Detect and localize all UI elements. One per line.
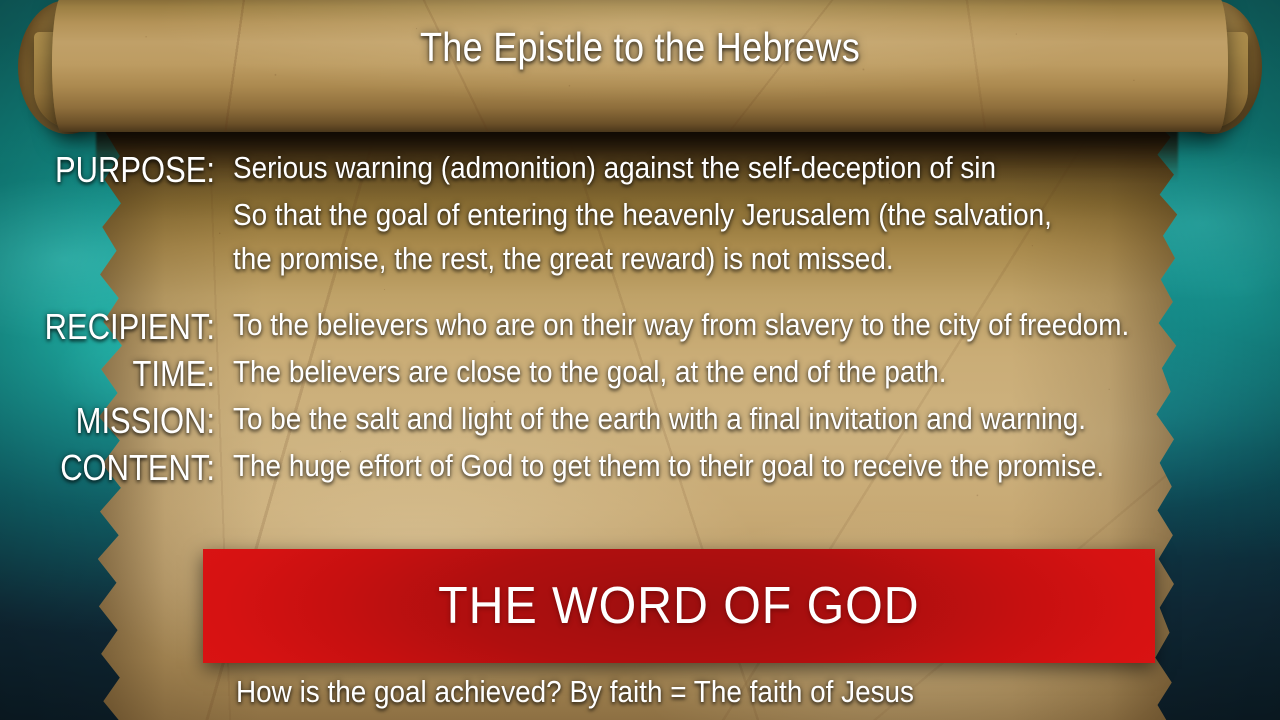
row-content: CONTENT: The huge effort of God to get t… [0, 444, 1280, 491]
slide-canvas: The Epistle to the Hebrews PURPOSE: Seri… [0, 0, 1280, 720]
row-line: The huge effort of God to get them to th… [233, 444, 1174, 488]
word-of-god-banner: THE WORD OF GOD [203, 549, 1155, 663]
content-rows: PURPOSE: Serious warning (admonition) ag… [0, 146, 1280, 469]
row-label-time: TIME: [30, 350, 215, 397]
row-line: To be the salt and light of the earth wi… [233, 397, 1174, 441]
row-body-time: The believers are close to the goal, at … [215, 350, 1174, 394]
row-line: The believers are close to the goal, at … [233, 350, 1174, 394]
row-label-recipient: RECIPIENT: [30, 303, 215, 350]
row-recipient: RECIPIENT: To the believers who are on t… [0, 303, 1280, 350]
row-line: the promise, the rest, the great reward)… [233, 237, 1174, 281]
row-body-mission: To be the salt and light of the earth wi… [215, 397, 1174, 441]
row-line: Serious warning (admonition) against the… [233, 146, 1174, 190]
row-mission: MISSION: To be the salt and light of the… [0, 397, 1280, 444]
banner-headline: THE WORD OF GOD [438, 578, 919, 634]
footer-question: How is the goal achieved? By faith = The… [236, 672, 914, 712]
row-time: TIME: The believers are close to the goa… [0, 350, 1280, 397]
row-body-purpose: Serious warning (admonition) against the… [215, 146, 1174, 190]
row-purpose-continued: So that the goal of entering the heavenl… [0, 193, 1280, 281]
row-label-purpose: PURPOSE: [30, 146, 215, 193]
row-body-recipient: To the believers who are on their way fr… [215, 303, 1174, 347]
row-body-content: The huge effort of God to get them to th… [215, 444, 1174, 488]
row-body-purpose-continued: So that the goal of entering the heavenl… [215, 193, 1174, 281]
row-line: So that the goal of entering the heavenl… [233, 193, 1174, 237]
row-label-content: CONTENT: [30, 444, 215, 491]
row-purpose: PURPOSE: Serious warning (admonition) ag… [0, 146, 1280, 193]
row-line: To the believers who are on their way fr… [233, 303, 1174, 347]
row-label-mission: MISSION: [30, 397, 215, 444]
slide-title: The Epistle to the Hebrews [77, 24, 1203, 71]
